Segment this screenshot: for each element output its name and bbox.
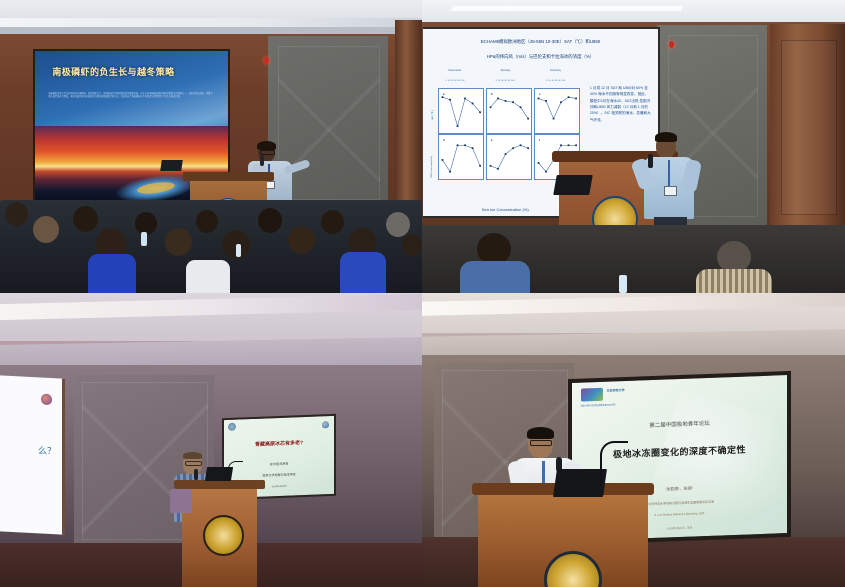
column-header-january: January (483, 68, 528, 72)
photo-collage: 南极磷虾的负生长与越冬策略 南极磷虾是南大洋生态系统的关键物种，其资源量巨大，是… (0, 0, 845, 587)
slide-title: 青藏高原冰芯有多老? (233, 438, 325, 449)
door-frame (395, 20, 422, 220)
photo-top-right: ECHAM5模拟欧洲地区（45-55N 10-30E）SAT（℃）和U850 H… (422, 0, 845, 293)
x-ticks-b: 0 20 40 60 80 100 (483, 80, 528, 82)
secondary-slide-line (55, 481, 56, 486)
ceiling (422, 0, 845, 22)
audience-head (321, 210, 344, 234)
microphone-icon (194, 469, 198, 480)
column-header-february: February (533, 68, 578, 72)
decorative-bird-icon (41, 393, 52, 405)
chart-panel-e: e (486, 134, 532, 180)
slide-org-lab: 地表过程与资源生态国家重点实验室 (581, 403, 616, 408)
university-logo-icon (581, 388, 603, 402)
x-ticks-a: 0 20 40 60 80 100 (432, 80, 477, 82)
ceiling-edge (0, 27, 422, 34)
photo-top-left: 南极磷虾的负生长与越冬策略 南极磷虾是南大洋生态系统的关键物种，其资源量巨大，是… (0, 0, 422, 293)
exit-light-icon (264, 57, 269, 64)
podium-emblem-icon (203, 515, 244, 556)
x-ticks-c: 0 20 40 60 80 100 (533, 80, 578, 82)
water-bottle-icon (141, 232, 147, 246)
podium-top (183, 172, 274, 181)
x-axis-caption: Sea Ice Concentration (%) (432, 207, 578, 212)
audience-head (33, 216, 59, 243)
audience-head (402, 234, 422, 256)
speaker-lanyard (668, 160, 670, 187)
secondary-slide-fragment: 么？ (38, 443, 56, 457)
audience-shirt-white (186, 260, 230, 293)
slide-title: 南极磷虾的负生长与越冬策略 (52, 65, 174, 78)
audience-head (5, 202, 28, 226)
speaker-glasses-icon (185, 461, 202, 466)
slide-org-banner: 北京师范大学 地表过程与资源生态国家重点实验室 (581, 386, 667, 408)
slide-background-swirl (642, 390, 791, 545)
microphone-stand-icon (600, 441, 628, 485)
ceiling-light-strip (451, 6, 683, 11)
water-bottle-icon (619, 275, 627, 293)
speaker-hair (527, 427, 554, 439)
slide-org-name: 北京师范大学 (607, 388, 625, 393)
podium-cloth (170, 489, 192, 513)
audience-shirt-blue (460, 261, 530, 293)
slide-affiliation: 南京大学地理与海洋学院 (233, 471, 325, 479)
university-logo-icon (228, 423, 236, 431)
slide-side-text: 1 月或 12 月 SAT 和 U850对 60% 至 40% 海冰不仅随有明显… (590, 85, 651, 123)
laptop-icon (160, 160, 183, 171)
secondary-projection-screen: 么？ (0, 375, 65, 535)
exit-light-icon (669, 41, 674, 48)
column-header-december: December (432, 68, 477, 72)
audience (422, 225, 845, 293)
speaker-badge (664, 186, 677, 196)
wooden-door (770, 24, 845, 229)
microphone-icon (260, 155, 264, 166)
chart-panel-b: b (486, 88, 532, 134)
speaker-hair (257, 141, 276, 150)
ceiling-light-strip (0, 18, 422, 27)
microphone-icon (648, 154, 653, 168)
audience-shirt-blue (340, 252, 386, 293)
chart-panel-a: a (438, 88, 484, 134)
water-bottle-icon (236, 244, 241, 257)
speaker-hair (655, 132, 677, 142)
chart-panel-d: d (438, 134, 484, 180)
podium-top (174, 480, 265, 489)
audience-head (386, 212, 410, 237)
laptop-icon (553, 469, 607, 497)
slide-authors: 张华强 陈声基 (233, 460, 325, 468)
audience-head (73, 206, 98, 232)
figure-grid: December January February 0 20 40 60 80 … (432, 68, 578, 184)
slide-title-line-1: ECHAM5模拟欧洲地区（45-55N 10-30E）SAT（℃）和U850 (435, 38, 647, 46)
y-axis-label-u850: U850 Zonal wind (m/s) (431, 156, 433, 178)
laptop-icon (553, 175, 593, 195)
slide-title-line-2: HPa的纬向风（m/s）与巴伦支和卡拉海冰的浓度（%） (435, 53, 647, 61)
decorative-bird-icon (322, 421, 329, 428)
audience-shirt-blue (88, 254, 136, 293)
audience (0, 196, 422, 293)
ceiling (0, 0, 422, 18)
audience-head (288, 226, 315, 254)
speaker-glasses-icon (530, 440, 552, 446)
slide-body: 南极磷虾是南大洋生态系统的关键物种，其资源量巨大，是南极海洋生物资源开发的重要对… (49, 93, 215, 99)
y-axis-label-sat: SAT ( ℃ ) (431, 111, 434, 121)
audience-head (196, 210, 218, 233)
chart-panel-c: c (534, 88, 580, 134)
speaker-hair (183, 452, 202, 459)
slide-forum-name: 第二届中国极地青年论坛 (594, 417, 766, 431)
audience-head (258, 208, 282, 233)
audience-head (165, 228, 192, 256)
photo-bottom-left: 么？ 青藏高原冰芯有多老? 张华强 陈声基 南京大学地理与海洋学院 2019年5… (0, 293, 422, 587)
photo-bottom-right: 北京师范大学 地表过程与资源生态国家重点实验室 第二届中国极地青年论坛 极地冰冻… (422, 293, 845, 587)
microphone-stand-icon (228, 461, 243, 476)
audience-shirt-striped (696, 269, 772, 293)
